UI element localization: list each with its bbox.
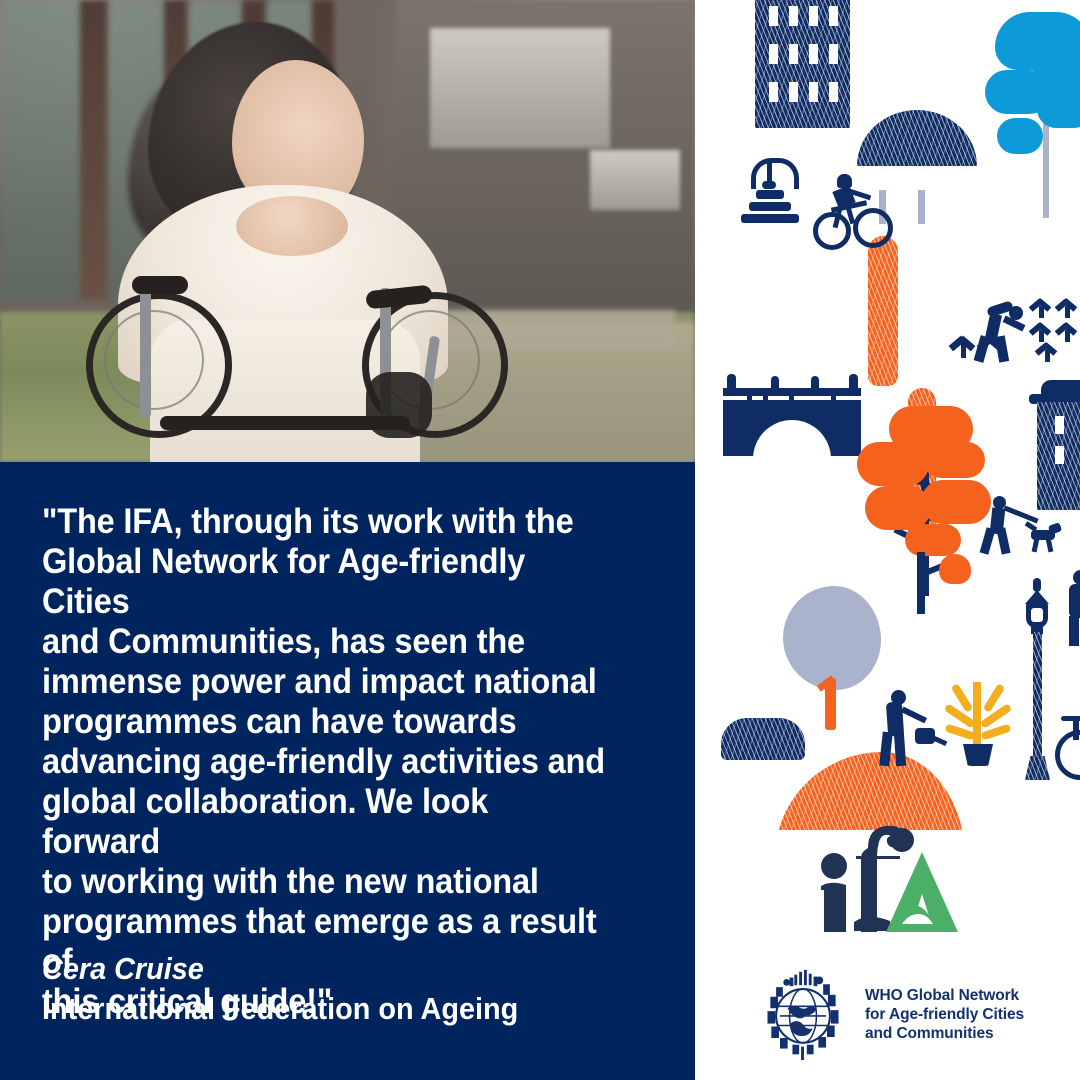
- quote-text: "The IFA, through its work with the Glob…: [42, 502, 611, 1022]
- bicycle-icon: [1055, 714, 1080, 772]
- blue-canopy-tree-icon: [975, 8, 1080, 218]
- quote-attribution: Cera Cruise International Federation on …: [42, 949, 619, 1029]
- author-organization: International Federation on Ageing: [42, 989, 619, 1029]
- author-name: Cera Cruise: [42, 949, 619, 989]
- house-icon: [1031, 380, 1080, 510]
- cyclist-icon: [811, 178, 885, 240]
- hero-photo: [0, 0, 695, 462]
- photo-door-frame: [80, 0, 110, 300]
- right-column: WHO Global Network for Age-friendly Citi…: [695, 0, 1080, 1080]
- photo-wheelchair-armrest-left: [132, 276, 188, 294]
- who-logo-text: WHO Global Network for Age-friendly Citi…: [865, 986, 1024, 1043]
- walking-person-icon: [1065, 570, 1080, 646]
- left-column: "The IFA, through its work with the Glob…: [0, 0, 695, 1080]
- ifa-logo: [810, 818, 970, 943]
- photo-wheelchair-crossbar: [160, 416, 410, 430]
- person-watering-icon: [875, 690, 945, 770]
- photo-glass-panel: [0, 0, 86, 300]
- potted-plant-icon: [945, 682, 1013, 766]
- gardener-with-crops-icon: [943, 300, 1080, 364]
- photo-window: [430, 28, 610, 148]
- grey-round-tree-icon: [783, 586, 887, 736]
- poplar-trunk-right: [918, 190, 925, 224]
- photo-wheelchair-frame: [140, 288, 151, 418]
- poplar-tree-left-icon: [868, 236, 898, 386]
- branch-with-leaf-icon: [903, 552, 969, 614]
- quote-panel: "The IFA, through its work with the Glob…: [0, 462, 695, 1080]
- photo-wheel-spokes: [104, 310, 204, 410]
- photo-hands: [236, 196, 348, 256]
- stone-bridge-icon: [723, 374, 861, 456]
- apartment-building-icon: [755, 0, 850, 128]
- who-globe-emblem: [755, 966, 851, 1062]
- photo-window: [590, 150, 680, 210]
- who-global-network-logo: WHO Global Network for Age-friendly Citi…: [755, 962, 1025, 1066]
- street-lamp-icon: [1017, 578, 1057, 780]
- quote-card: "The IFA, through its work with the Glob…: [0, 0, 1080, 1080]
- navy-hill-icon: [857, 110, 977, 166]
- dog-walker-icon: [977, 496, 1063, 556]
- fountain-icon: [735, 160, 803, 228]
- illustration-collage: [695, 0, 1080, 830]
